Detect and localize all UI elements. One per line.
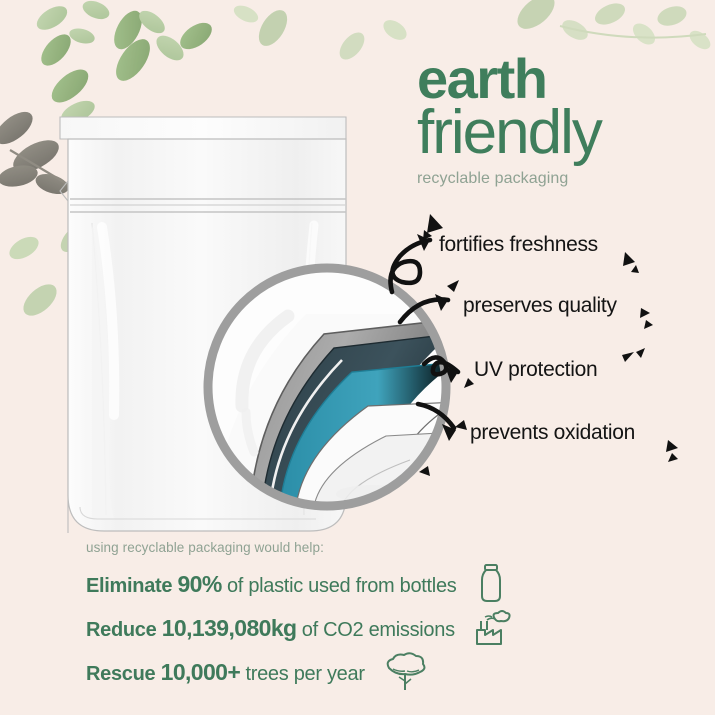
statistics-section: using recyclable packaging would help: E…	[86, 540, 646, 701]
stat-number: 10,000+	[161, 659, 241, 685]
stat-number: 90%	[177, 571, 221, 597]
stat-text-rescue: Rescue 10,000+ trees per year	[86, 659, 365, 686]
feature-label-preserves-quality: preserves quality	[463, 294, 617, 318]
stat-row-rescue: Rescue 10,000+ trees per year	[86, 657, 646, 687]
stat-tail: of plastic used from bottles	[227, 575, 457, 597]
stat-text-reduce: Reduce 10,139,080kg of CO2 emissions	[86, 615, 455, 642]
stat-verb: Eliminate	[86, 575, 172, 597]
factory-icon	[473, 608, 513, 648]
stat-row-reduce: Reduce 10,139,080kg of CO2 emissions	[86, 613, 646, 643]
stat-tail: of CO2 emissions	[302, 619, 455, 641]
feature-label-fortifies-freshness: fortifies freshness	[439, 233, 598, 257]
stat-tail: trees per year	[245, 663, 364, 685]
stat-row-eliminate: Eliminate 90% of plastic used from bottl…	[86, 569, 646, 599]
statistics-intro: using recyclable packaging would help:	[86, 540, 646, 555]
bottle-icon	[474, 563, 508, 605]
infographic-canvas: earth friendly recyclable packaging	[0, 0, 715, 715]
stat-text-eliminate: Eliminate 90% of plastic used from bottl…	[86, 571, 456, 598]
tree-icon	[383, 651, 429, 693]
stat-verb: Rescue	[86, 663, 155, 685]
feature-label-uv-protection: UV protection	[474, 358, 597, 382]
feature-label-prevents-oxidation: prevents oxidation	[470, 421, 635, 445]
stat-verb: Reduce	[86, 619, 156, 641]
stat-number: 10,139,080kg	[162, 615, 297, 641]
